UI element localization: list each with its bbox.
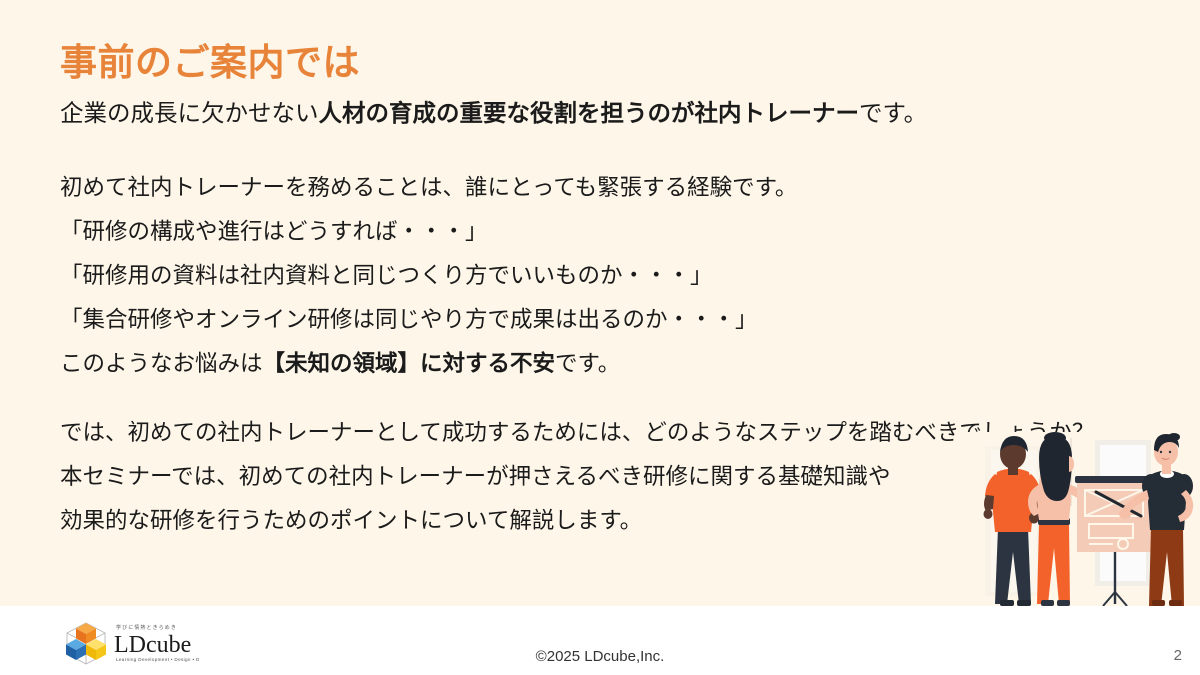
- paragraph1-line-1: 初めて社内トレーナーを務めることは、誰にとっても緊張する経験です。: [60, 167, 1140, 211]
- lead-part2: です。: [859, 100, 927, 126]
- page-number: 2: [1174, 647, 1182, 664]
- spacer-1: [60, 139, 1140, 167]
- slide: 事前のご案内では 企業の成長に欠かせない人材の育成の重要な役割を担うのが社内トレ…: [0, 0, 1200, 675]
- paragraph1-line-4: 「集合研修やオンライン研修は同じやり方で成果は出るのか・・・」: [60, 299, 1140, 343]
- lead-part1: 企業の成長に欠かせない: [60, 100, 319, 126]
- page-title: 事前のご案内では: [60, 32, 360, 86]
- paragraph1-line-2: 「研修の構成や進行はどうすれば・・・」: [60, 211, 1140, 255]
- three-people-presentation-illustration: [955, 432, 1200, 606]
- lead-sentence: 企業の成長に欠かせない人材の育成の重要な役割を担うのが社内トレーナーです。: [60, 93, 1140, 139]
- conclusion-bold: 【未知の領域】に対する不安: [263, 351, 556, 376]
- paragraph1-line-3: 「研修用の資料は社内資料と同じつくり方でいいものか・・・」: [60, 255, 1140, 299]
- conclusion-sentence: このようなお悩みは【未知の領域】に対する不安です。: [60, 343, 1140, 387]
- copyright-text: ©2025 LDcube,Inc.: [0, 648, 1200, 665]
- logo-tagline: 学びに情熱ときらめき: [116, 624, 177, 631]
- conclusion-part2: です。: [555, 351, 620, 376]
- spacer-2: [60, 387, 1140, 412]
- conclusion-part1: このようなお悩みは: [60, 351, 263, 376]
- lead-bold: 人材の育成の重要な役割を担うのが社内トレーナー: [319, 100, 860, 126]
